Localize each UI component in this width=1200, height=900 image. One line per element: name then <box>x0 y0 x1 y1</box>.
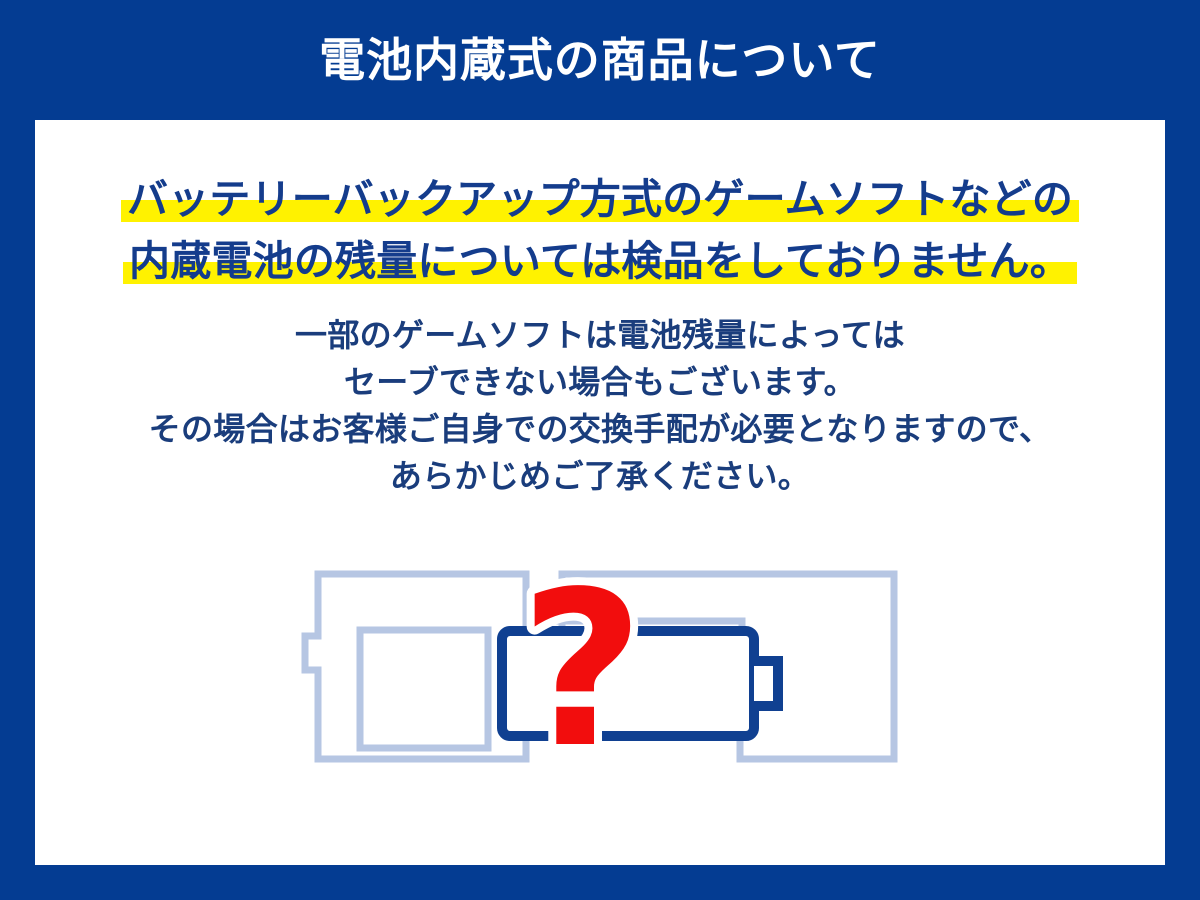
slide-root: 電池内蔵式の商品について バッテリーバックアップ方式のゲームソフトなどの 内蔵電… <box>0 0 1200 900</box>
cartridge-body-outline <box>305 574 526 759</box>
content-panel: バッテリーバックアップ方式のゲームソフトなどの 内蔵電池の残量については検品をし… <box>35 120 1165 865</box>
game-cartridge-left-icon <box>305 574 526 759</box>
headline-row-1: バッテリーバックアップ方式のゲームソフトなどの <box>35 168 1165 230</box>
body-copy-block: 一部のゲームソフトは電池残量によっては セーブできない場合もございます。 その場… <box>35 312 1165 500</box>
headline-line: バッテリーバックアップ方式のゲームソフトなどの <box>121 168 1079 230</box>
headline-line-text: 内蔵電池の残量については検品をしておりません。 <box>129 237 1071 285</box>
header-bar: 電池内蔵式の商品について <box>0 0 1200 120</box>
headline-line-text: バッテリーバックアップ方式のゲームソフトなどの <box>127 175 1073 223</box>
body-line: その場合はお客様ご自身での交換手配が必要となりますので、 <box>35 406 1165 453</box>
question-mark-icon: ? ? <box>520 558 644 793</box>
headline-row-2: 内蔵電池の残量については検品をしておりません。 <box>35 230 1165 292</box>
illustration-svg: ? ? <box>290 558 910 793</box>
body-line: 一部のゲームソフトは電池残量によっては <box>35 312 1165 359</box>
battery-terminal <box>754 661 778 706</box>
headline-line: 内蔵電池の残量については検品をしておりません。 <box>123 230 1077 292</box>
page-title: 電池内蔵式の商品について <box>319 37 881 83</box>
body-line: セーブできない場合もございます。 <box>35 359 1165 406</box>
cartridge-label-outline <box>360 630 488 748</box>
body-line: あらかじめご了承ください。 <box>35 453 1165 500</box>
illustration: ? ? <box>35 550 1165 800</box>
question-mark-glyph: ? <box>520 558 644 793</box>
headline-block: バッテリーバックアップ方式のゲームソフトなどの 内蔵電池の残量については検品をし… <box>35 168 1165 292</box>
